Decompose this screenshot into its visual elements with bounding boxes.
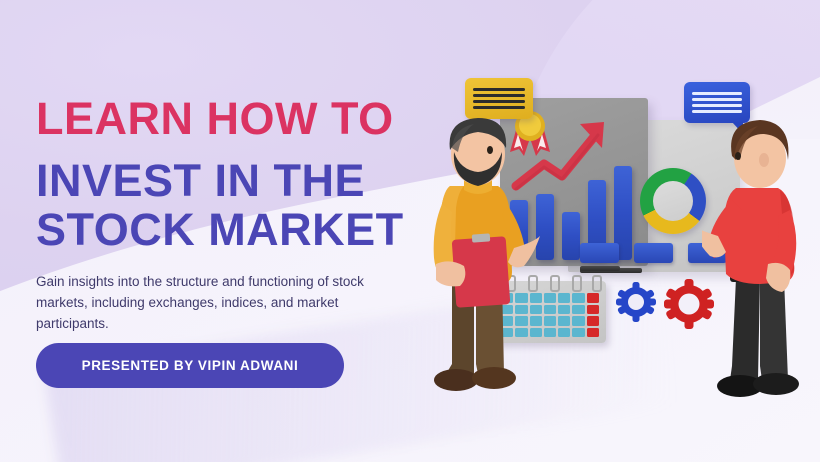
calendar-cell — [572, 328, 584, 338]
headline-blue-line-2: STOCK MARKET — [36, 206, 436, 255]
bubble-line — [692, 92, 742, 95]
bubble-line — [692, 98, 742, 101]
gear-icon-blue — [616, 282, 656, 322]
headline-block: LEARN HOW TO INVEST IN THE STOCK MARKET … — [36, 96, 436, 335]
panel-button-2[interactable] — [634, 243, 673, 263]
right-person-shoe — [753, 373, 799, 395]
bubble-line — [473, 100, 525, 103]
headline-pink: LEARN HOW TO — [36, 96, 436, 141]
calendar-cell — [558, 305, 570, 315]
calendar-cell — [544, 305, 556, 315]
left-person-eye — [487, 146, 493, 154]
calendar-cell — [544, 293, 556, 303]
presented-by-button[interactable]: PRESENTED BY VIPIN ADWANI — [36, 343, 344, 388]
presenter-left — [416, 108, 540, 398]
headline-blue-line-1: INVEST IN THE — [36, 157, 436, 206]
panel-button-1[interactable] — [580, 243, 619, 263]
right-person-eye — [735, 152, 741, 160]
bar-3 — [562, 212, 580, 260]
calendar-cell — [572, 305, 584, 315]
left-person-hand — [436, 261, 465, 286]
calendar-cell — [558, 293, 570, 303]
calendar-cell — [558, 316, 570, 326]
bubble-line — [692, 104, 742, 107]
calendar-cell — [587, 305, 599, 315]
calendar-ring-5 — [592, 275, 602, 292]
calendar-cell — [572, 293, 584, 303]
calendar-cell — [558, 328, 570, 338]
left-person-shoe — [472, 367, 516, 389]
calendar-cell — [587, 316, 599, 326]
presented-by-button-label: PRESENTED BY VIPIN ADWANI — [82, 358, 299, 373]
subtitle-text: Gain insights into the structure and fun… — [36, 272, 408, 335]
calendar-cell — [587, 328, 599, 338]
panel-line-2 — [580, 266, 620, 271]
right-person-ear — [759, 153, 769, 167]
left-person-shoe — [434, 369, 478, 391]
bubble-line — [473, 94, 525, 97]
bubble-line — [692, 110, 742, 113]
presenter-right — [702, 114, 820, 404]
right-person-leg — [760, 278, 788, 380]
illustration — [410, 0, 820, 462]
clipboard-clip — [472, 233, 491, 242]
calendar-cell — [572, 316, 584, 326]
bubble-line — [473, 88, 525, 91]
calendar-cell — [587, 293, 599, 303]
right-person-leg — [730, 278, 760, 380]
calendar-ring-4 — [572, 275, 582, 292]
donut-chart — [640, 168, 706, 234]
calendar-cell — [544, 316, 556, 326]
calendar-cell — [544, 328, 556, 338]
slide-canvas: LEARN HOW TO INVEST IN THE STOCK MARKET … — [0, 0, 820, 462]
calendar-ring-3 — [550, 275, 560, 292]
